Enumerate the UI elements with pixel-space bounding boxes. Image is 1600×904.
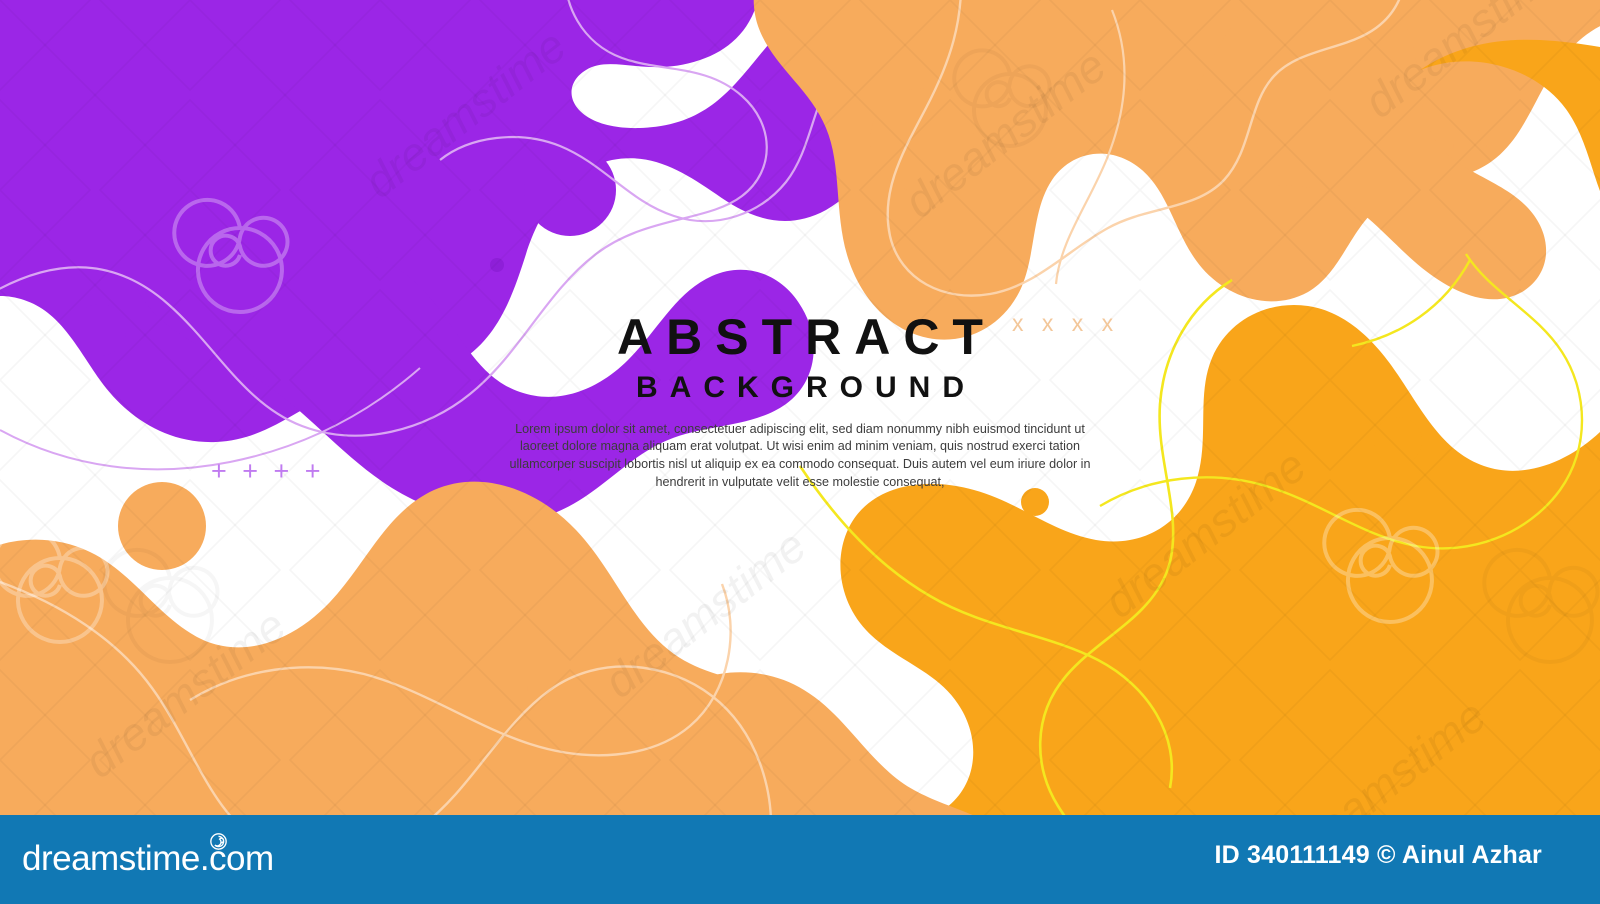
artwork-canvas: dreamstime dreamstime dreamstime dreamst… <box>0 0 1600 904</box>
dreamstime-logo-text: dreamstime.com <box>22 839 274 878</box>
dreamstime-logo[interactable]: dreamstime.com <box>22 837 274 881</box>
x-marks-decoration: x x x x <box>1012 310 1119 337</box>
abstract-background-artwork: dreamstime dreamstime dreamstime dreamst… <box>0 0 1600 904</box>
spiral-mark-icon <box>210 833 227 850</box>
watermark-footer-bar: dreamstime.com ID 340111149 © Ainul Azha… <box>0 815 1600 904</box>
watermark-hatch <box>0 0 1600 904</box>
image-credit: ID 340111149 © Ainul Azhar <box>1215 841 1543 870</box>
plus-marks-decoration: + + + + <box>211 456 325 487</box>
